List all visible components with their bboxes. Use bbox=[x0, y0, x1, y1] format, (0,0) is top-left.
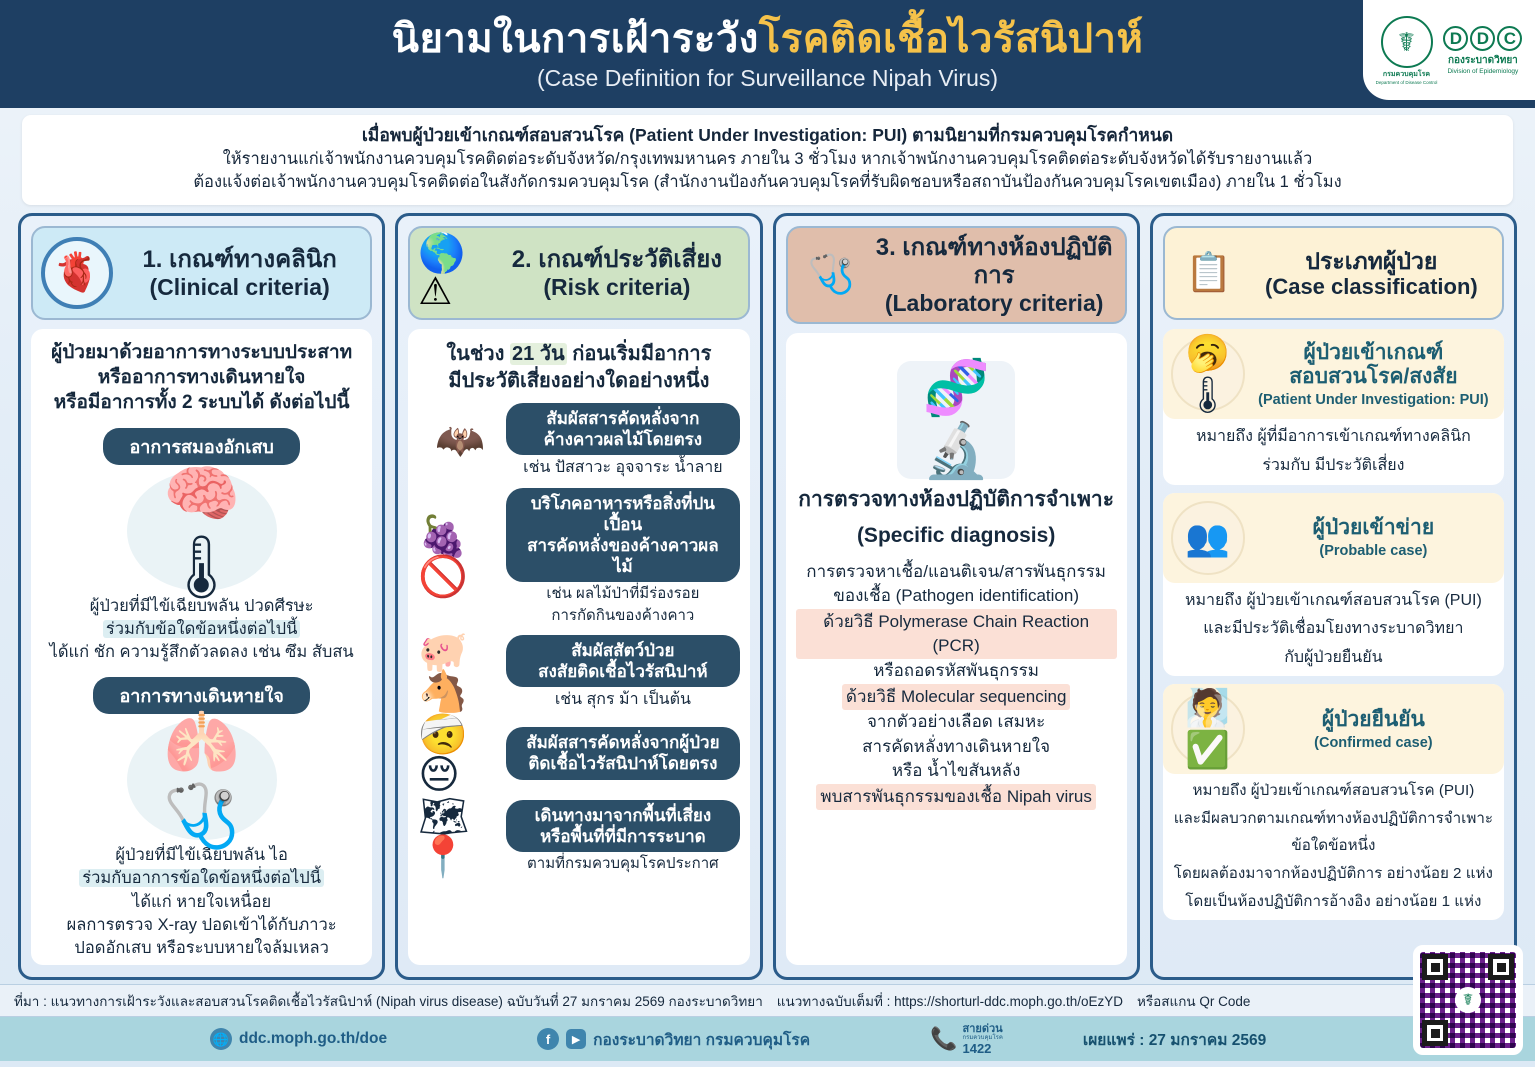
phone-icon: 📞 bbox=[930, 1026, 957, 1052]
risk-5-note: ตามที่กรมควบคุมโรคประกาศ bbox=[506, 855, 739, 874]
column3-body: 🧬🔬 การตรวจทางห้องปฏิบัติการจำเพาะ (Speci… bbox=[786, 333, 1127, 965]
qr-center-logo: ☤ bbox=[1455, 987, 1481, 1013]
column4-header: 📋 ประเภทผู้ป่วย (Case classification) bbox=[1163, 226, 1504, 320]
sick-patient-contact-icon: 🤕😔 bbox=[418, 719, 502, 791]
fruit-bat-icon: 🦇 bbox=[418, 405, 502, 477]
risk-3-label-line2: สงสัยติดเชื้อไวรัสนิปาห์ bbox=[538, 662, 707, 681]
map-travel-icon: 🗺📍 bbox=[418, 801, 502, 873]
column-laboratory-criteria: 🩺 3. เกณฑ์ทางห้องปฏิบัติการ (Laboratory … bbox=[773, 213, 1140, 980]
risk-3-label-line1: สัมผัสสัตว์ป่วย bbox=[571, 641, 674, 660]
human-anatomy-icon: 🫀 bbox=[41, 237, 113, 309]
case-3-desc-2: และมีผลบวกตามเกณฑ์ทางห้องปฏิบัติการจำเพา… bbox=[1163, 802, 1504, 830]
column1-title-th: 1. เกณฑ์ทางคลินิก bbox=[119, 246, 360, 274]
column2-body: ในช่วง 21 วัน ก่อนเริ่มมีอาการ มีประวัติ… bbox=[408, 329, 749, 965]
case-3-title-en: (Confirmed case) bbox=[1251, 735, 1496, 751]
respiratory-text-5: ปอดอักเสบ หรือระบบหายใจล้มเหลว bbox=[41, 937, 362, 960]
case-1-desc-1: หมายถึง ผู้ที่มีอาการเข้าเกณฑ์ทางคลินิก bbox=[1163, 419, 1504, 448]
social-links[interactable]: f ▶ กองระบาดวิทยา กรมควบคุมโรค bbox=[537, 1027, 810, 1052]
notice-line-3: ต้องแจ้งต่อเจ้าพนักงานควบคุมโรคติดต่อในส… bbox=[34, 171, 1501, 194]
case-3-title-line1: ผู้ป่วยยืนยัน bbox=[1251, 708, 1496, 733]
case-3-desc-5: โดยเป็นห้องปฏิบัติการอ้างอิง อย่างน้อย 1… bbox=[1163, 885, 1504, 913]
ppe-positive-result-icon: 🧖✅ bbox=[1171, 692, 1245, 766]
risk-3-note: เช่น สุกร ม้า เป็นต้น bbox=[506, 690, 739, 710]
encephalitis-text-3: ได้แก่ ชัก ความรู้สึกตัวลดลง เช่น ซึม สั… bbox=[41, 641, 362, 664]
risk-2-note: เช่น ผลไม้ป่าที่มีร่องรอย bbox=[506, 585, 739, 604]
website-label: ddc.moph.go.th/doe bbox=[239, 1030, 387, 1048]
website-link[interactable]: 🌐 ddc.moph.go.th/doe bbox=[210, 1028, 387, 1050]
page-subtitle: (Case Definition for Surveillance Nipah … bbox=[537, 65, 998, 92]
case-card-pui: 🥱🌡 ผู้ป่วยเข้าเกณฑ์ สอบสวนโรค/สงสัย (Pat… bbox=[1163, 329, 1504, 484]
hotline-number: 1422 bbox=[962, 1042, 1002, 1056]
ddc-letters: D D C bbox=[1443, 26, 1522, 51]
sick-child-thermometer-icon: 🥱🌡 bbox=[1171, 337, 1245, 411]
globe-icon: 🌐 bbox=[210, 1028, 232, 1050]
hotline-label-1: สายด่วน bbox=[962, 1024, 1002, 1036]
risk-2-label-line2: สารคัดหลั่งของค้างคาวผลไม้ bbox=[527, 536, 719, 576]
case-2-desc-2: และมีประวัติเชื่อมโยงทางระบาดวิทยา bbox=[1163, 611, 1504, 640]
column3-text-5-sequencing: ด้วยวิธี Molecular sequencing bbox=[842, 684, 1071, 710]
column3-specific-title-en: (Specific diagnosis) bbox=[796, 523, 1117, 549]
qr-code-icon[interactable]: ☤ bbox=[1413, 945, 1523, 1055]
column3-text-9-result: พบสารพันธุกรรมของเชื้อ Nipah virus bbox=[816, 784, 1095, 810]
doctor-clipboard-icon: 🩺 bbox=[796, 239, 868, 311]
clipboard-checklist-icon: 📋 bbox=[1173, 237, 1245, 309]
risk-4-label-line2: ติดเชื้อไวรัสนิปาห์โดยตรง bbox=[528, 754, 717, 773]
facebook-icon[interactable]: f bbox=[537, 1028, 559, 1050]
fruit-bunch-icon: 🍇🚫 bbox=[418, 521, 502, 593]
column2-header: 🌎⚠ 2. เกณฑ์ประวัติเสี่ยง (Risk criteria) bbox=[408, 226, 749, 320]
case-card-probable: 👥 ผู้ป่วยเข้าข่าย (Probable case) หมายถึ… bbox=[1163, 493, 1504, 677]
risk-2-note-2: การกัดกินของค้างคาว bbox=[506, 607, 739, 626]
page-title-part1: นิยามในการเฝ้าระวัง bbox=[392, 17, 759, 61]
notice-line-2: ให้รายงานแก่เจ้าพนักงานควบคุมโรคติดต่อระ… bbox=[34, 148, 1501, 171]
caduceus-icon: ☤ bbox=[1381, 16, 1433, 68]
column3-text-2: ของเชื้อ (Pathogen identification) bbox=[796, 584, 1117, 608]
lungs-stethoscope-icon: 🫁🩺 bbox=[127, 720, 277, 840]
risk-item: 🐖🐴 สัมผัสสัตว์ป่วย สงสัยติดเชื้อไวรัสนิป… bbox=[418, 635, 739, 710]
pcr-lab-machine-icon: 🧬🔬 bbox=[897, 361, 1015, 479]
youtube-icon[interactable]: ▶ bbox=[566, 1029, 586, 1049]
reporting-notice: เมื่อพบผู้ป่วยเข้าเกณฑ์สอบสวนโรค (Patien… bbox=[22, 115, 1513, 205]
column3-text-3-pcr: ด้วยวิธี Polymerase Chain Reaction (PCR) bbox=[796, 609, 1117, 660]
column2-intro-post: ก่อนเริ่มมีอาการ bbox=[567, 343, 712, 365]
column1-intro-line-1: ผู้ป่วยมาด้วยอาการทางระบบประสาท bbox=[41, 341, 362, 366]
ddc-logo-en: Division of Epidemiology bbox=[1447, 68, 1518, 75]
moph-logo-th: กรมควบคุมโรค bbox=[1383, 69, 1430, 80]
hotline-info: 📞 สายด่วน กรมควบคุมโรค 1422 bbox=[930, 1024, 1003, 1055]
case-3-desc-3: ข้อใดข้อหนึ่ง bbox=[1163, 829, 1504, 857]
column3-text-7: สารคัดหลั่งทางเดินหายใจ bbox=[796, 735, 1117, 759]
column1-intro-line-3: หรือมีอาการทั้ง 2 ระบบได้ ดังต่อไปนี้ bbox=[41, 391, 362, 416]
organization-logos: ☤ กรมควบคุมโรค Department of Disease Con… bbox=[1363, 0, 1535, 100]
qr-eye-top-right bbox=[1488, 954, 1514, 980]
notice-line-1: เมื่อพบผู้ป่วยเข้าเกณฑ์สอบสวนโรค (Patien… bbox=[34, 124, 1501, 148]
column3-header: 🩺 3. เกณฑ์ทางห้องปฏิบัติการ (Laboratory … bbox=[786, 226, 1127, 324]
source-text-1: ที่มา : แนวทางการเฝ้าระวังและสอบสวนโรคติ… bbox=[14, 994, 763, 1009]
case-2-title-line1: ผู้ป่วยเข้าข่าย bbox=[1251, 516, 1496, 541]
encephalitis-text-2: ร่วมกับข้อใดข้อหนึ่งต่อไปนี้ bbox=[103, 620, 301, 638]
globe-magnifier-warning-icon: 🌎⚠ bbox=[418, 237, 490, 309]
ddc-logo: D D C กองระบาดวิทยา Division of Epidemio… bbox=[1443, 26, 1522, 75]
pig-horse-icon: 🐖🐴 bbox=[418, 636, 502, 708]
column3-specific-title-th: การตรวจทางห้องปฏิบัติการจำเพาะ bbox=[796, 487, 1117, 513]
risk-item: 🦇 สัมผัสสารคัดหลั่งจาก ค้างคาวผลไม้โดยตร… bbox=[418, 403, 739, 478]
risk-2-label-line1: บริโภคอาหารหรือสิ่งที่ปนเปื้อน bbox=[531, 494, 715, 534]
social-label: กองระบาดวิทยา กรมควบคุมโรค bbox=[593, 1027, 810, 1052]
column4-body: 🥱🌡 ผู้ป่วยเข้าเกณฑ์ สอบสวนโรค/สงสัย (Pat… bbox=[1163, 329, 1504, 965]
column1-body: ผู้ป่วยมาด้วยอาการทางระบบประสาท หรืออากา… bbox=[31, 329, 372, 965]
column3-text-4: หรือถอดรหัสพันธุกรรม bbox=[796, 659, 1117, 683]
publish-date: เผยแพร่ : 27 มกราคม 2569 bbox=[1083, 1027, 1266, 1052]
risk-1-note: เช่น ปัสสาวะ อุจจาระ น้ำลาย bbox=[506, 458, 739, 478]
criteria-columns: 🫀 1. เกณฑ์ทางคลินิก (Clinical criteria) … bbox=[0, 205, 1535, 980]
risk-item: 🍇🚫 บริโภคอาหารหรือสิ่งที่ปนเปื้อน สารคัด… bbox=[418, 488, 739, 626]
risk-1-label-line1: สัมผัสสารคัดหลั่งจาก bbox=[546, 409, 699, 428]
column-case-classification: 📋 ประเภทผู้ป่วย (Case classification) 🥱🌡… bbox=[1150, 213, 1517, 980]
column2-intro-pre: ในช่วง bbox=[446, 343, 510, 365]
case-1-title-en: (Patient Under Investigation: PUI) bbox=[1251, 392, 1496, 408]
column3-text-8: หรือ น้ำไขสันหลัง bbox=[796, 759, 1117, 783]
moph-logo-en: Department of Disease Control bbox=[1376, 80, 1438, 85]
risk-1-label-line2: ค้างคาวผลไม้โดยตรง bbox=[544, 430, 702, 449]
column2-title-en: (Risk criteria) bbox=[496, 274, 737, 300]
case-3-desc-1: หมายถึง ผู้ป่วยเข้าเกณฑ์สอบสวนโรค (PUI) bbox=[1163, 774, 1504, 802]
case-1-title-line2: สอบสวนโรค/สงสัย bbox=[1251, 365, 1496, 390]
column1-header: 🫀 1. เกณฑ์ทางคลินิก (Clinical criteria) bbox=[31, 226, 372, 320]
column-clinical-criteria: 🫀 1. เกณฑ์ทางคลินิก (Clinical criteria) … bbox=[18, 213, 385, 980]
qr-eye-top-left bbox=[1422, 954, 1448, 980]
respiratory-text-4: ผลการตรวจ X-ray ปอดเข้าได้กับภาวะ bbox=[41, 914, 362, 937]
page-title: นิยามในการเฝ้าระวังโรคติดเชื้อไวรัสนิปาห… bbox=[392, 17, 1144, 61]
risk-4-label-line1: สัมผัสสารคัดหลั่งจากผู้ป่วย bbox=[526, 733, 719, 752]
respiratory-text-3: ได้แก่ หายใจเหนื่อย bbox=[41, 891, 362, 914]
risk-item: 🗺📍 เดินทางมาจากพื้นที่เสี่ยง หรือพื้นที่… bbox=[418, 800, 739, 874]
source-text-3: หรือสแกน Qr Code bbox=[1137, 994, 1250, 1009]
column-risk-criteria: 🌎⚠ 2. เกณฑ์ประวัติเสี่ยง (Risk criteria)… bbox=[395, 213, 762, 980]
respiratory-text-2: ร่วมกับอาการข้อใดข้อหนึ่งต่อไปนี้ bbox=[79, 869, 324, 887]
column2-title-th: 2. เกณฑ์ประวัติเสี่ยง bbox=[496, 246, 737, 274]
column4-title-en: (Case classification) bbox=[1251, 274, 1492, 299]
brain-thermometer-icon: 🧠🌡 bbox=[127, 471, 277, 591]
ddc-letter-3: C bbox=[1497, 26, 1522, 51]
case-2-desc-3: กับผู้ป่วยยืนยัน bbox=[1163, 640, 1504, 669]
column3-text-6: จากตัวอย่างเลือด เสมหะ bbox=[796, 710, 1117, 734]
case-card-confirmed: 🧖✅ ผู้ป่วยยืนยัน (Confirmed case) หมายถึ… bbox=[1163, 684, 1504, 920]
ddc-logo-th: กองระบาดวิทยา bbox=[1448, 53, 1518, 68]
column1-title-en: (Clinical criteria) bbox=[119, 274, 360, 300]
column3-title-en: (Laboratory criteria) bbox=[874, 290, 1115, 316]
page-title-part2: โรคติดเชื้อไวรัสนิปาห์ bbox=[759, 17, 1144, 61]
case-1-title-line1: ผู้ป่วยเข้าเกณฑ์ bbox=[1251, 341, 1496, 366]
column4-title-th: ประเภทผู้ป่วย bbox=[1251, 248, 1492, 274]
case-2-desc-1: หมายถึง ผู้ป่วยเข้าเกณฑ์สอบสวนโรค (PUI) bbox=[1163, 583, 1504, 612]
column3-text-1: การตรวจหาเชื้อ/แอนติเจน/สารพันธุกรรม bbox=[796, 560, 1117, 584]
case-1-desc-2: ร่วมกับ มีประวัติเสี่ยง bbox=[1163, 448, 1504, 477]
risk-item: 🤕😔 สัมผัสสารคัดหลั่งจากผู้ป่วย ติดเชื้อไ… bbox=[418, 719, 739, 791]
column1-intro-line-2: หรืออาการทางเดินหายใจ bbox=[41, 366, 362, 391]
ddc-letter-1: D bbox=[1443, 26, 1468, 51]
risk-5-label-line1: เดินทางมาจากพื้นที่เสี่ยง bbox=[535, 806, 712, 825]
page-header: นิยามในการเฝ้าระวังโรคติดเชื้อไวรัสนิปาห… bbox=[0, 0, 1535, 108]
source-line: ที่มา : แนวทางการเฝ้าระวังและสอบสวนโรคติ… bbox=[0, 984, 1535, 1017]
case-3-desc-4: โดยผลต้องมาจากห้องปฏิบัติการ อย่างน้อย 2… bbox=[1163, 857, 1504, 885]
source-text-2[interactable]: แนวทางฉบับเต็มที่ : https://shorturl-ddc… bbox=[777, 994, 1123, 1009]
epidemiological-link-icon: 👥 bbox=[1171, 501, 1245, 575]
column2-intro-highlight: 21 วัน bbox=[510, 343, 567, 365]
case-2-title-en: (Probable case) bbox=[1251, 543, 1496, 559]
qr-eye-bottom-left bbox=[1422, 1020, 1448, 1046]
column2-intro-line-2: มีประวัติเสี่ยงอย่างใดอย่างหนึ่ง bbox=[418, 368, 739, 394]
page-footer: 🌐 ddc.moph.go.th/doe f ▶ กองระบาดวิทยา ก… bbox=[0, 1017, 1535, 1061]
risk-5-label-line2: หรือพื้นที่ที่มีการระบาด bbox=[540, 827, 706, 846]
moph-logo: ☤ กรมควบคุมโรค Department of Disease Con… bbox=[1376, 16, 1438, 85]
ddc-letter-2: D bbox=[1470, 26, 1495, 51]
column3-title-th: 3. เกณฑ์ทางห้องปฏิบัติการ bbox=[874, 234, 1115, 289]
